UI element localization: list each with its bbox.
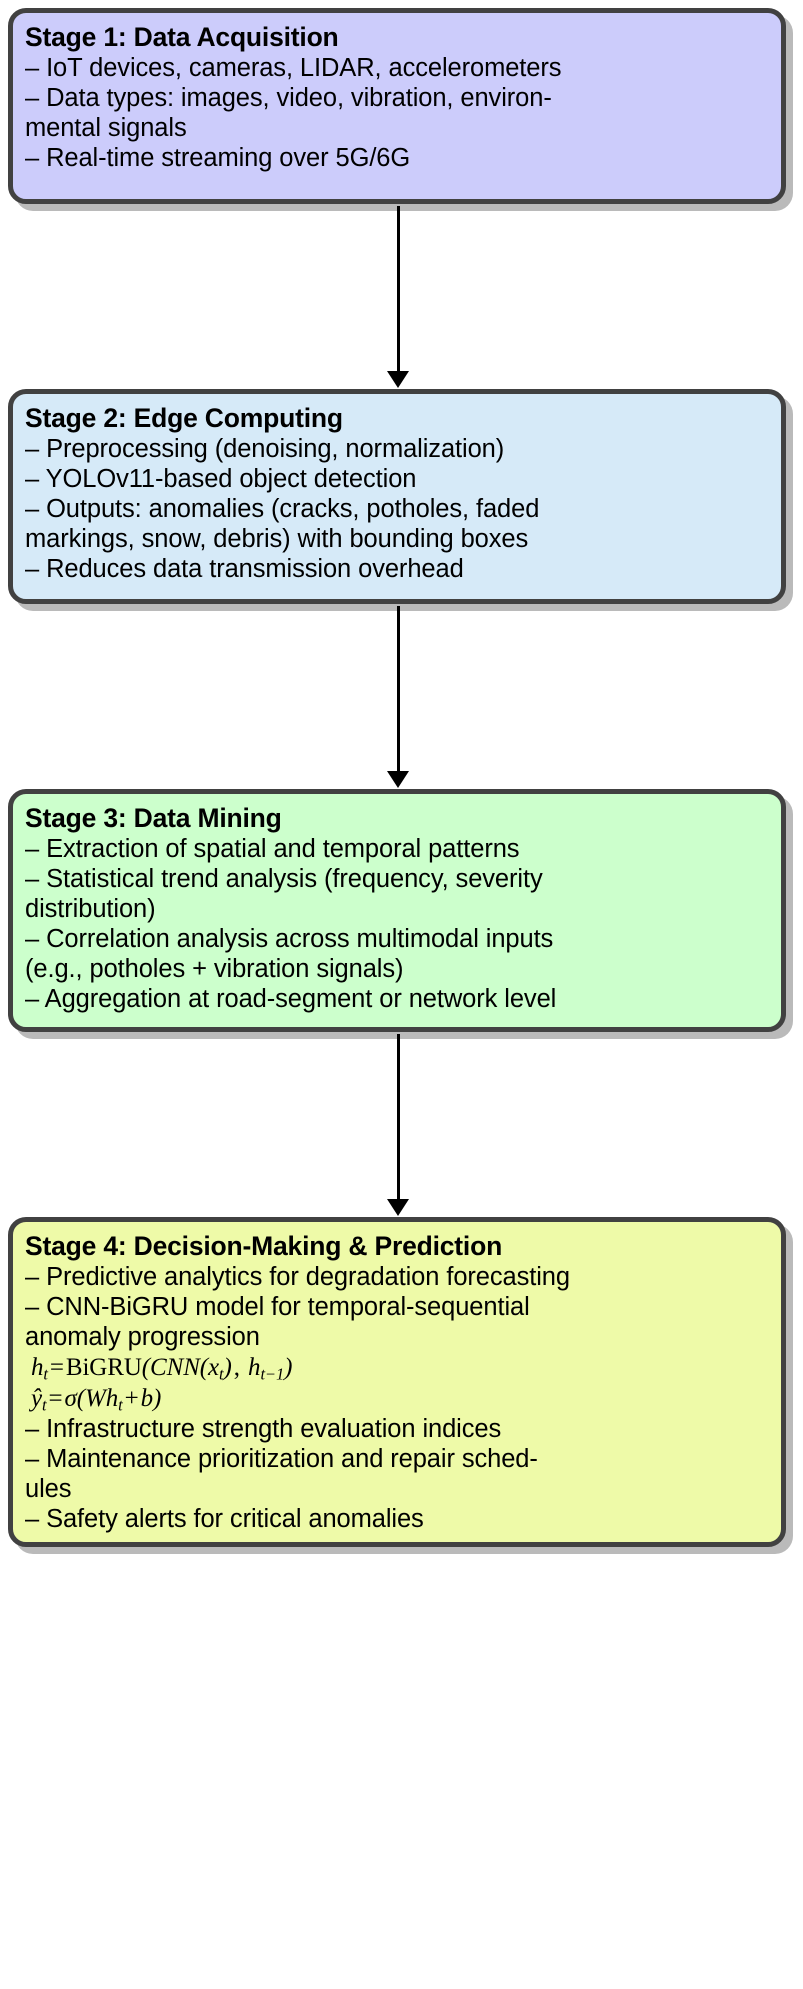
- stage-1-line-1: – IoT devices, cameras, LIDAR, accelerom…: [25, 54, 769, 84]
- stage-3-line-3: distribution): [25, 895, 769, 925]
- arrow-2-to-3-head: [387, 771, 409, 788]
- stage-4-line-2: – CNN-BiGRU model for temporal-sequentia…: [25, 1293, 769, 1323]
- stage-4-box[interactable]: Stage 4: Decision-Making & Prediction – …: [8, 1217, 786, 1547]
- stage-2-line-4: markings, snow, debris) with bounding bo…: [25, 525, 769, 555]
- stage-2-line-1: – Preprocessing (denoising, normalizatio…: [25, 435, 769, 465]
- flowchart-canvas: Stage 1: Data Acquisition – IoT devices,…: [0, 0, 803, 1989]
- stage-1-line-3: mental signals: [25, 114, 769, 144]
- stage-2-title: Stage 2: Edge Computing: [25, 403, 769, 434]
- stage-1-box[interactable]: Stage 1: Data Acquisition – IoT devices,…: [8, 8, 786, 204]
- stage-2-line-5: – Reduces data transmission overhead: [25, 555, 769, 585]
- stage-4-title: Stage 4: Decision-Making & Prediction: [25, 1231, 769, 1262]
- stage-2-line-3: – Outputs: anomalies (cracks, potholes, …: [25, 495, 769, 525]
- stage-4-line-5: – Maintenance prioritization and repair …: [25, 1445, 769, 1475]
- arrow-1-to-2-line: [397, 206, 400, 378]
- stage-4-line-1: – Predictive analytics for degradation f…: [25, 1263, 769, 1293]
- stage-3-line-6: – Aggregation at road-segment or network…: [25, 985, 769, 1015]
- arrow-2-to-3-line: [397, 606, 400, 778]
- stage-3-line-4: – Correlation analysis across multimodal…: [25, 925, 769, 955]
- stage-2-box[interactable]: Stage 2: Edge Computing – Preprocessing …: [8, 389, 786, 604]
- stage-4-line-3: anomaly progression: [25, 1323, 769, 1353]
- stage-1-title: Stage 1: Data Acquisition: [25, 22, 769, 53]
- stage-3-line-2: – Statistical trend analysis (frequency,…: [25, 865, 769, 895]
- stage-4-line-4: – Infrastructure strength evaluation ind…: [25, 1415, 769, 1445]
- stage-4-line-7: – Safety alerts for critical anomalies: [25, 1505, 769, 1535]
- stage-4-equation-2: ŷt=σ(Wht+b): [25, 1384, 769, 1415]
- stage-1-line-2: – Data types: images, video, vibration, …: [25, 84, 769, 114]
- stage-1-line-4: – Real-time streaming over 5G/6G: [25, 144, 769, 174]
- stage-3-body: – Extraction of spatial and temporal pat…: [25, 835, 769, 1015]
- stage-3-title: Stage 3: Data Mining: [25, 803, 769, 834]
- stage-4-equation-1: ht=BiGRU(CNN(xt), ht−1): [25, 1353, 769, 1384]
- stage-2-line-2: – YOLOv11-based object detection: [25, 465, 769, 495]
- stage-1-body: – IoT devices, cameras, LIDAR, accelerom…: [25, 54, 769, 174]
- stage-4-line-6: ules: [25, 1475, 769, 1505]
- stage-4-body: – Predictive analytics for degradation f…: [25, 1263, 769, 1535]
- stage-2-body: – Preprocessing (denoising, normalizatio…: [25, 435, 769, 585]
- arrow-3-to-4-line: [397, 1034, 400, 1206]
- stage-3-line-1: – Extraction of spatial and temporal pat…: [25, 835, 769, 865]
- stage-3-line-5: (e.g., potholes + vibration signals): [25, 955, 769, 985]
- arrow-1-to-2-head: [387, 371, 409, 388]
- arrow-3-to-4-head: [387, 1199, 409, 1216]
- stage-3-box[interactable]: Stage 3: Data Mining – Extraction of spa…: [8, 789, 786, 1032]
